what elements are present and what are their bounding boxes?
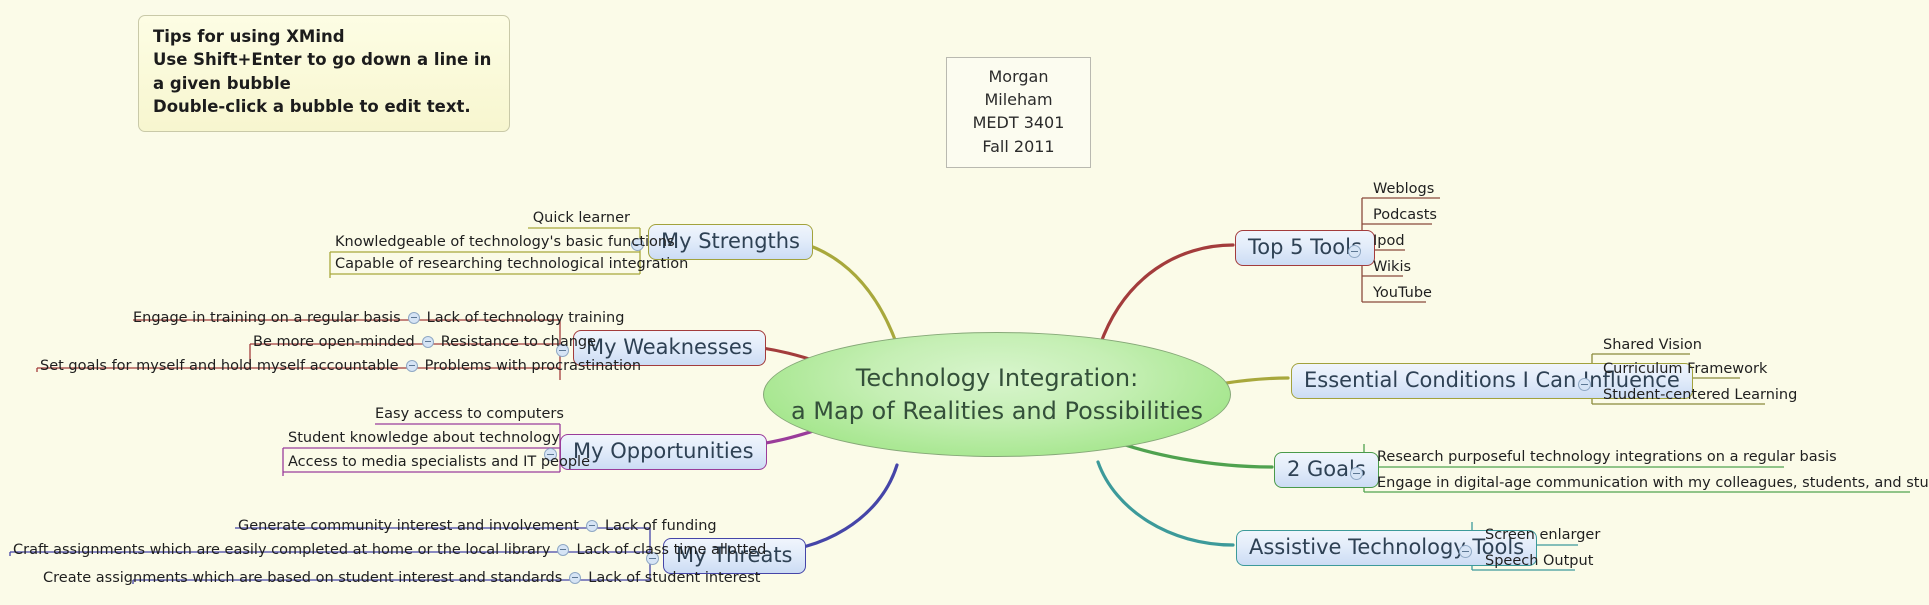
subtopic-weakness-2[interactable]: Resistance to change	[441, 334, 596, 350]
collapse-toggle-assistive-technology-tools[interactable]	[1459, 545, 1472, 558]
subtopic-threat-2[interactable]: Lack of class time allotted	[576, 542, 766, 558]
subtopic-essential-3[interactable]: Student-centered Learning	[1598, 386, 1802, 407]
subtopic-threat-1[interactable]: Lack of funding	[605, 518, 717, 534]
subtopic-assistive-1[interactable]: Screen enlarger	[1480, 526, 1605, 547]
subtopic-tools-5[interactable]: YouTube	[1368, 284, 1437, 305]
subtopic-weakness-1[interactable]: Lack of technology training	[427, 310, 625, 326]
tips-line-3: Double-click a bubble to edit text.	[153, 95, 495, 118]
subtopic-strengths-3[interactable]: Capable of researching technological int…	[330, 255, 635, 276]
subtopic-tools-1[interactable]: Weblogs	[1368, 180, 1439, 201]
subtopic-row-threat-1[interactable]: Generate community interest and involvem…	[238, 518, 717, 534]
collapse-toggle-weakness-3[interactable]	[406, 360, 418, 372]
subtopic-row-weakness-3[interactable]: Set goals for myself and hold myself acc…	[40, 358, 641, 374]
central-topic-line-2: a Map of Realities and Possibilities	[791, 395, 1203, 427]
collapse-toggle-threat-2[interactable]	[557, 544, 569, 556]
tips-line-2: Use Shift+Enter to go down a line in a g…	[153, 48, 495, 95]
subtopic-strengths-1[interactable]: Quick learner	[440, 209, 635, 230]
author-term: Fall 2011	[953, 135, 1084, 158]
subtopic-opportunities-1[interactable]: Easy access to computers	[370, 405, 535, 426]
subtopic-row-threat-3[interactable]: Create assignments which are based on st…	[43, 570, 760, 586]
subsub-threat-2-action[interactable]: Craft assignments which are easily compl…	[13, 542, 550, 558]
collapse-toggle-threat-1[interactable]	[586, 520, 598, 532]
author-name: Morgan Mileham	[953, 65, 1084, 111]
collapse-toggle-threat-3[interactable]	[569, 572, 581, 584]
mindmap-canvas[interactable]: Tips for using XMind Use Shift+Enter to …	[0, 0, 1929, 605]
subtopic-row-threat-2[interactable]: Craft assignments which are easily compl…	[13, 542, 766, 558]
tips-note[interactable]: Tips for using XMind Use Shift+Enter to …	[138, 15, 510, 132]
collapse-toggle-weakness-2[interactable]	[422, 336, 434, 348]
subtopic-threat-3[interactable]: Lack of student interest	[588, 570, 760, 586]
subsub-weakness-1-action[interactable]: Engage in training on a regular basis	[133, 310, 401, 326]
collapse-toggle-top-5-tools[interactable]	[1348, 245, 1361, 258]
subtopic-essential-2[interactable]: Curriculum Framework	[1598, 360, 1772, 381]
central-topic-line-1: Technology Integration:	[791, 362, 1203, 394]
collapse-toggle-essential-conditions[interactable]	[1578, 378, 1591, 391]
collapse-toggle-2-goals[interactable]	[1350, 467, 1363, 480]
central-topic[interactable]: Technology Integration: a Map of Realiti…	[763, 332, 1231, 457]
subtopic-tools-4[interactable]: Wikis	[1368, 258, 1416, 279]
subtopic-opportunities-3[interactable]: Access to media specialists and IT peopl…	[283, 453, 535, 474]
subsub-threat-3-action[interactable]: Create assignments which are based on st…	[43, 570, 562, 586]
subtopic-opportunities-2[interactable]: Student knowledge about technology	[283, 429, 535, 450]
topic-my-opportunities[interactable]: My Opportunities	[560, 434, 767, 470]
subtopic-strengths-2[interactable]: Knowledgeable of technology's basic func…	[330, 233, 635, 254]
subtopic-tools-3[interactable]: Ipod	[1368, 232, 1410, 253]
subtopic-essential-1[interactable]: Shared Vision	[1598, 336, 1707, 357]
subsub-weakness-2-action[interactable]: Be more open-minded	[253, 334, 415, 350]
subtopic-tools-2[interactable]: Podcasts	[1368, 206, 1442, 227]
subtopic-goals-1[interactable]: Research purposeful technology integrati…	[1372, 448, 1842, 469]
subsub-threat-1-action[interactable]: Generate community interest and involvem…	[238, 518, 579, 534]
topic-2-goals[interactable]: 2 Goals	[1274, 452, 1379, 488]
collapse-toggle-weakness-1[interactable]	[408, 312, 420, 324]
subtopic-weakness-3[interactable]: Problems with procrastination	[425, 358, 641, 374]
subsub-weakness-3-action[interactable]: Set goals for myself and hold myself acc…	[40, 358, 399, 374]
subtopic-row-weakness-1[interactable]: Engage in training on a regular basis La…	[133, 310, 624, 326]
author-info-box[interactable]: Morgan Mileham MEDT 3401 Fall 2011	[946, 57, 1091, 168]
tips-line-1: Tips for using XMind	[153, 25, 495, 48]
subtopic-assistive-2[interactable]: Speech Output	[1480, 552, 1598, 573]
author-course: MEDT 3401	[953, 111, 1084, 134]
subtopic-goals-2[interactable]: Engage in digital-age communication with…	[1372, 474, 1929, 495]
subtopic-row-weakness-2[interactable]: Be more open-minded Resistance to change	[253, 334, 596, 350]
